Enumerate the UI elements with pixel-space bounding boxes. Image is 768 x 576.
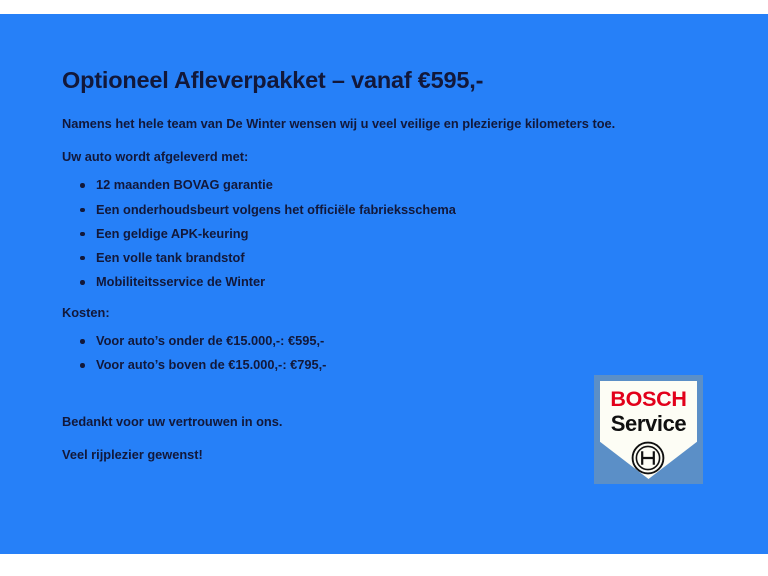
list-item: Een geldige APK-keuring bbox=[96, 226, 692, 243]
logo-brand-text: BOSCH bbox=[594, 389, 703, 411]
bullet-icon bbox=[80, 280, 85, 285]
bullet-icon bbox=[80, 256, 85, 261]
bullet-icon bbox=[80, 208, 85, 213]
list-item: Een volle tank brandstof bbox=[96, 250, 692, 267]
greeting-text: Namens het hele team van De Winter wense… bbox=[62, 116, 692, 133]
list-item: Voor auto’s boven de €15.000,-: €795,- bbox=[96, 357, 692, 374]
bosch-service-logo: BOSCH Service bbox=[594, 375, 703, 484]
list-item-label: Voor auto’s onder de €15.000,-: €595,- bbox=[96, 333, 324, 348]
list-item-label: Een onderhoudsbeurt volgens het officiël… bbox=[96, 202, 456, 217]
list-item-label: Mobiliteitsservice de Winter bbox=[96, 274, 265, 289]
bullet-icon bbox=[80, 363, 85, 368]
list-item: 12 maanden BOVAG garantie bbox=[96, 177, 692, 194]
list-item: Mobiliteitsservice de Winter bbox=[96, 274, 692, 291]
costs-items-list: Voor auto’s onder de €15.000,-: €595,- V… bbox=[62, 333, 692, 374]
bullet-icon bbox=[80, 183, 85, 188]
list-item: Een onderhoudsbeurt volgens het officiël… bbox=[96, 202, 692, 219]
bullet-icon bbox=[80, 339, 85, 344]
list-item-label: Een geldige APK-keuring bbox=[96, 226, 248, 241]
costs-label: Kosten: bbox=[62, 305, 692, 322]
bullet-icon bbox=[80, 232, 85, 237]
logo-service-text: Service bbox=[594, 413, 703, 435]
list-item-label: 12 maanden BOVAG garantie bbox=[96, 177, 273, 192]
page-title: Optioneel Afleverpakket – vanaf €595,- bbox=[62, 66, 692, 94]
list-item-label: Een volle tank brandstof bbox=[96, 250, 245, 265]
list-item: Voor auto’s onder de €15.000,-: €595,- bbox=[96, 333, 692, 350]
delivery-items-list: 12 maanden BOVAG garantie Een onderhouds… bbox=[62, 177, 692, 290]
list-item-label: Voor auto’s boven de €15.000,-: €795,- bbox=[96, 357, 326, 372]
slide-canvas: Optioneel Afleverpakket – vanaf €595,- N… bbox=[0, 0, 768, 576]
bosch-armature-emblem-icon bbox=[631, 441, 665, 475]
delivery-label: Uw auto wordt afgeleverd met: bbox=[62, 149, 692, 166]
